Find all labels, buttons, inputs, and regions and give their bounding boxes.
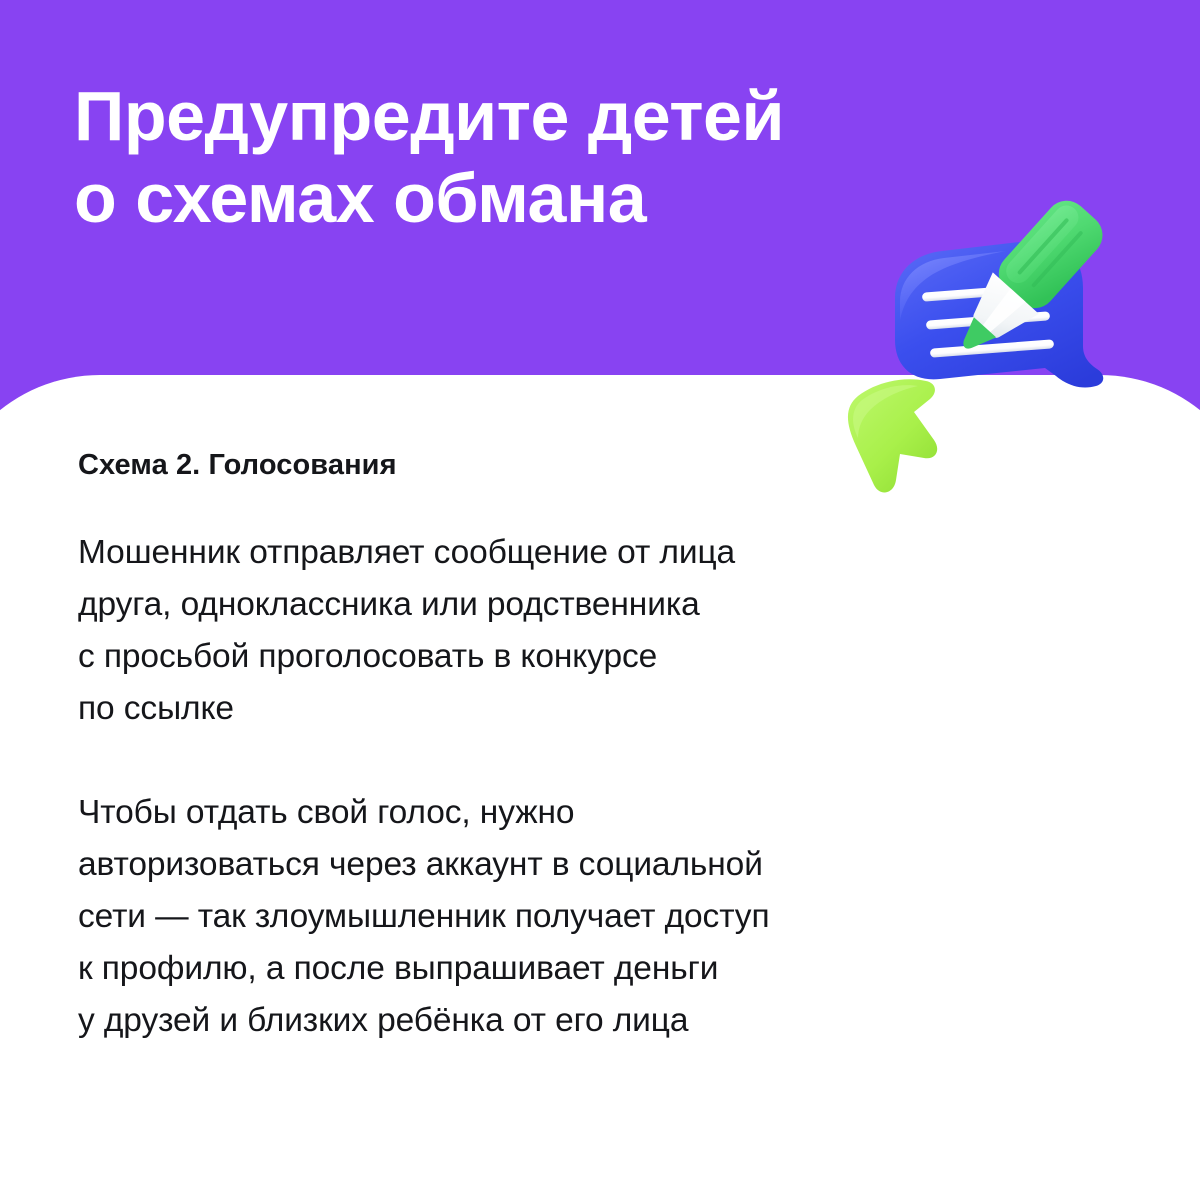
pencil-collar [958, 272, 1039, 352]
scheme-description-paragraph-1: Мошенник отправляет сообщение от лица др… [78, 527, 938, 735]
message-line-2 [926, 311, 1050, 329]
message-lines-group [922, 283, 1054, 357]
scheme-description-paragraph-2: Чтобы отдать свой голос, нужно авторизов… [78, 787, 938, 1047]
card-content: Схема 2. Голосования Мошенник отправляет… [78, 447, 938, 1047]
message-line-3 [930, 339, 1054, 357]
speech-bubble-icon [895, 240, 1103, 387]
slide-root: Предупредите детей о схемах обмана Схема… [0, 0, 1200, 1200]
content-card: Схема 2. Голосования Мошенник отправляет… [0, 375, 1200, 1200]
hero-section: Предупредите детей о схемах обмана [74, 76, 974, 240]
page-title: Предупредите детей о схемах обмана [74, 76, 974, 240]
message-line-1 [922, 283, 1046, 301]
scheme-heading: Схема 2. Голосования [78, 447, 938, 483]
pencil-tip [955, 317, 996, 358]
